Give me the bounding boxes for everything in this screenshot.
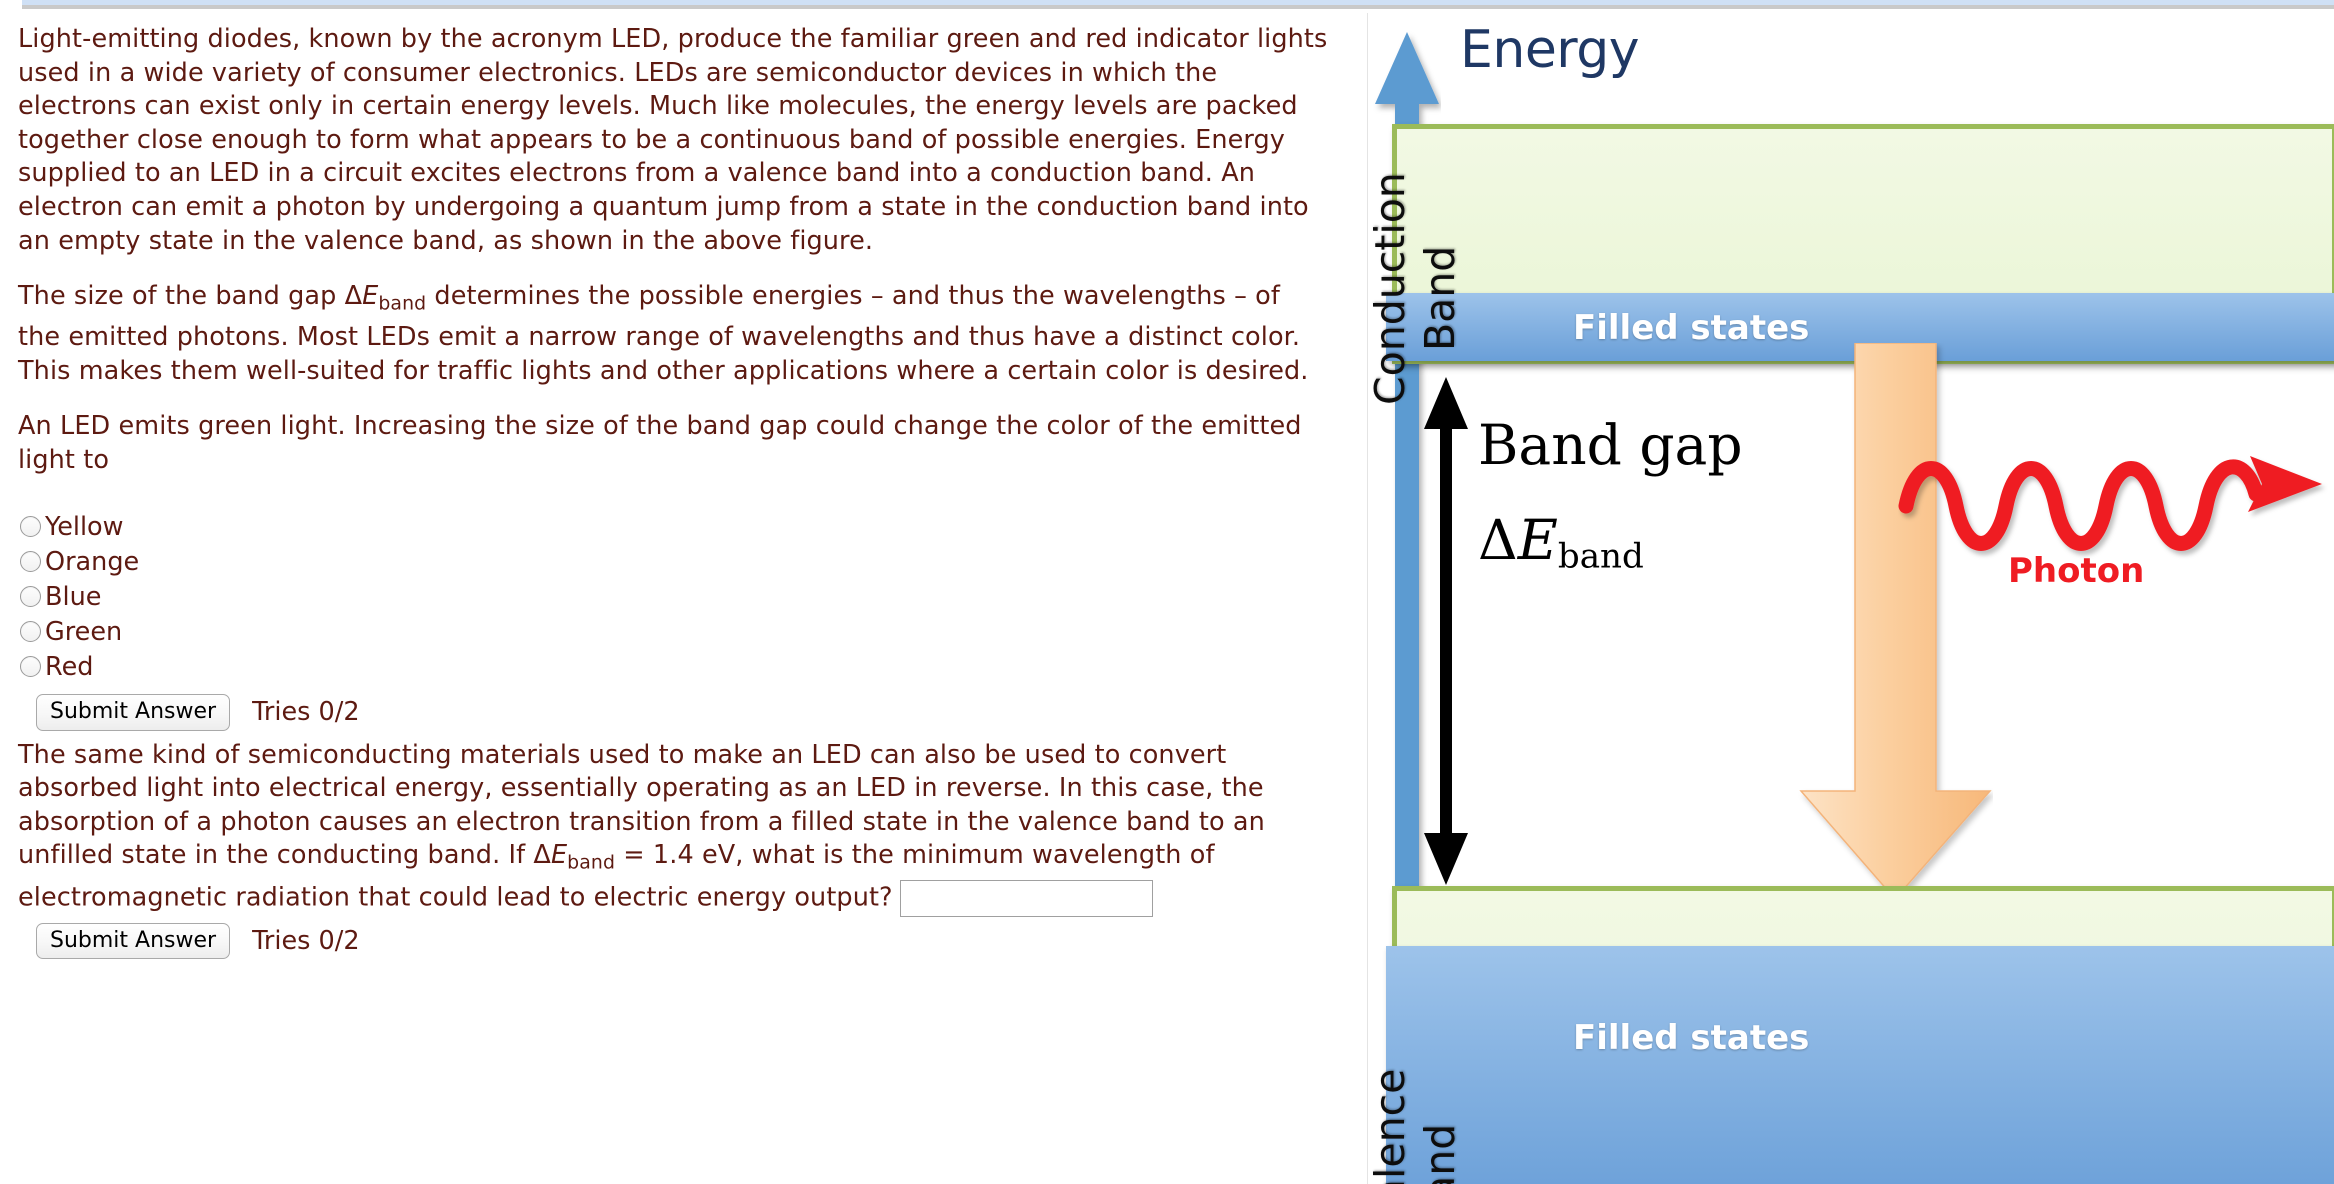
electron-transition-arrow-icon bbox=[1798, 343, 1993, 903]
tries-counter-1: Tries 0/2 bbox=[252, 697, 360, 727]
photon-wave-icon bbox=[1898, 448, 2328, 568]
valence-filled-states-label: Filled states bbox=[1573, 1018, 1809, 1058]
radio-option-green[interactable]: Green bbox=[18, 614, 1349, 649]
radio-button-icon[interactable] bbox=[20, 656, 41, 677]
question-content-column: Light-emitting diodes, known by the acro… bbox=[0, 13, 1368, 1184]
conduction-band-word-band: Band bbox=[1416, 246, 1464, 351]
conduction-band-label: Conduction bbox=[1368, 172, 1414, 405]
radio-option-orange[interactable]: Orange bbox=[18, 544, 1349, 579]
tries-counter-2: Tries 0/2 bbox=[252, 926, 360, 956]
radio-button-icon[interactable] bbox=[20, 551, 41, 572]
radio-button-icon[interactable] bbox=[20, 621, 41, 642]
valence-band-label: Valence bbox=[1368, 1069, 1414, 1184]
radio-option-label: Blue bbox=[45, 582, 101, 612]
radio-option-yellow[interactable]: Yellow bbox=[18, 509, 1349, 544]
band-subscript: band bbox=[1558, 537, 1644, 577]
question2-prompt: The same kind of semiconducting material… bbox=[18, 739, 1328, 918]
q2-subscript: band bbox=[567, 852, 615, 874]
energy-axis-label: Energy bbox=[1460, 20, 1639, 80]
browser-top-strip bbox=[22, 0, 2334, 9]
intro-paragraph: Light-emitting diodes, known by the acro… bbox=[18, 23, 1328, 258]
band-gap-double-arrow-icon bbox=[1423, 377, 1469, 885]
radio-option-label: Green bbox=[45, 617, 122, 647]
conduction-filled-states-label: Filled states bbox=[1573, 308, 1809, 348]
bandgap-para-italic-e: E bbox=[362, 281, 378, 311]
radio-option-red[interactable]: Red bbox=[18, 649, 1349, 684]
radio-option-label: Orange bbox=[45, 547, 139, 577]
bandgap-para-subscript: band bbox=[378, 292, 426, 314]
submit-answer-button-1[interactable]: Submit Answer bbox=[36, 694, 230, 730]
radio-option-label: Yellow bbox=[45, 512, 124, 542]
band-diagram-figure: Energy Filled states Conduction Band Ban… bbox=[1368, 13, 2334, 1184]
question1-radio-group: Yellow Orange Blue Green Red bbox=[18, 509, 1349, 684]
bandgap-paragraph: The size of the band gap ΔEband determin… bbox=[18, 280, 1328, 388]
question1-submit-row: Submit Answer Tries 0/2 bbox=[18, 694, 1349, 730]
band-gap-label: Band gap bbox=[1478, 413, 1743, 477]
question2-submit-row: Submit Answer Tries 0/2 bbox=[18, 923, 1349, 959]
answer-input-field[interactable] bbox=[900, 880, 1153, 917]
radio-button-icon[interactable] bbox=[20, 516, 41, 537]
q2-italic-e: E bbox=[551, 840, 567, 870]
valence-band-word-band: Band bbox=[1416, 1124, 1464, 1184]
photon-label: Photon bbox=[2008, 551, 2144, 591]
submit-answer-button-2[interactable]: Submit Answer bbox=[36, 923, 230, 959]
band-gap-symbol: ΔEband bbox=[1478, 508, 1644, 577]
radio-option-label: Red bbox=[45, 652, 93, 682]
bandgap-para-part-a: The size of the band gap Δ bbox=[18, 281, 362, 311]
radio-option-blue[interactable]: Blue bbox=[18, 579, 1349, 614]
delta-symbol: Δ bbox=[1478, 508, 1518, 572]
valence-filled-states-bar bbox=[1386, 946, 2334, 1184]
energy-symbol: E bbox=[1518, 508, 1558, 572]
radio-button-icon[interactable] bbox=[20, 586, 41, 607]
page-root: Light-emitting diodes, known by the acro… bbox=[0, 0, 2334, 1184]
question1-prompt: An LED emits green light. Increasing the… bbox=[18, 410, 1328, 477]
